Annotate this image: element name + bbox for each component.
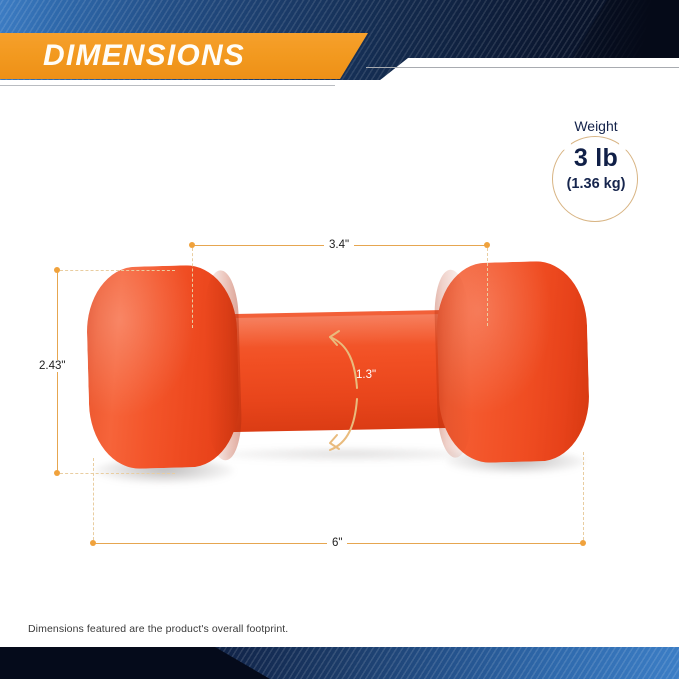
dimension-marker-height-top <box>54 267 60 273</box>
dumbbell-end-cap-right <box>435 260 591 464</box>
weight-label: Weight <box>548 118 644 134</box>
page-title: DIMENSIONS <box>43 41 245 71</box>
dimension-marker-length-left <box>90 540 96 546</box>
dumbbell-end-cap-right-shading <box>433 269 472 458</box>
dimension-label-handle-diameter: 1.3" <box>356 369 376 381</box>
guide-line-length-right <box>583 452 584 540</box>
weight-value-metric: (1.36 kg) <box>548 176 644 192</box>
dimension-marker-handle-left <box>189 242 195 248</box>
dumbbell-end-cap-left <box>85 264 241 470</box>
footer-dark-wedge <box>0 647 270 679</box>
footer-band <box>0 647 679 679</box>
dimension-marker-handle-right <box>484 242 490 248</box>
curved-arrow-up-icon <box>330 337 357 388</box>
dimension-arrows-handle-diameter <box>300 300 410 460</box>
dimensions-infographic: DIMENSIONS Weight 3 lb (1.36 kg) 3.4" <box>0 0 679 679</box>
dimension-marker-length-right <box>580 540 586 546</box>
footnote-text: Dimensions featured are the product's ov… <box>28 623 288 635</box>
guide-line-length-left <box>93 458 94 540</box>
curved-arrow-down-head-icon <box>330 435 339 449</box>
guide-line-height-top <box>60 270 175 271</box>
guide-line-handle-right <box>487 248 488 326</box>
dimension-marker-height-bottom <box>54 470 60 476</box>
title-banner: DIMENSIONS <box>0 33 368 79</box>
weight-badge: Weight 3 lb (1.36 kg) <box>548 118 644 218</box>
header-divider-left <box>0 85 335 86</box>
curved-arrow-down-icon <box>330 399 357 450</box>
weight-value-imperial: 3 lb <box>548 144 644 173</box>
header-divider-right <box>366 67 679 68</box>
guide-line-handle-left <box>192 248 193 328</box>
guide-line-height-bottom <box>60 473 175 474</box>
dumbbell-end-cap-left-shading <box>203 270 242 461</box>
dimension-label-overall-length: 6" <box>327 537 347 549</box>
dimension-label-overall-height: 2.43" <box>34 360 70 372</box>
dimension-label-handle-length: 3.4" <box>324 239 354 251</box>
